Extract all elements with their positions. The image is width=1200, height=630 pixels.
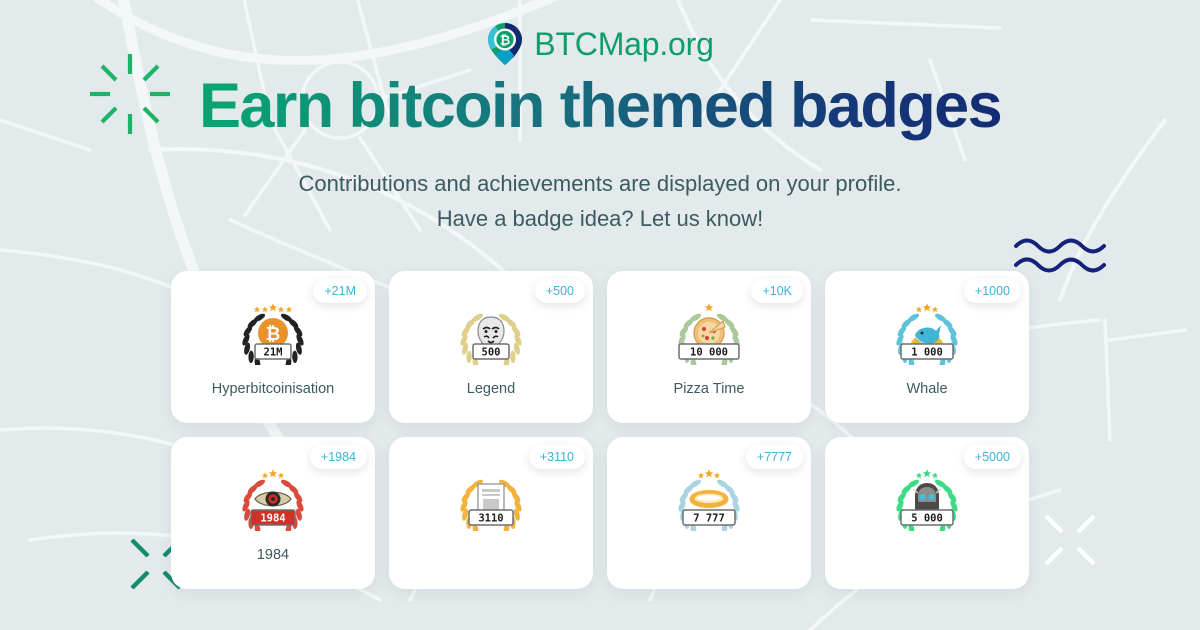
subtitle-line-1: Contributions and achievements are displ… <box>0 166 1200 201</box>
badge-grid: +21M ₿ 21MHyperbitcoinisation+500 500Leg… <box>0 271 1200 589</box>
page-subtitle: Contributions and achievements are displ… <box>0 166 1200 236</box>
surveillance-eye-laurel-icon: 1984 <box>237 469 309 531</box>
badge-points-pill: +5000 <box>964 445 1021 469</box>
guy-fawkes-mask-laurel-icon: 500 <box>455 303 527 365</box>
badge-name-label: Whale <box>906 381 947 397</box>
badge-name-label: 1984 <box>257 547 289 563</box>
badge-name-label: Pizza Time <box>674 381 745 397</box>
svg-text:1 000: 1 000 <box>911 346 943 358</box>
subtitle-line-2: Have a badge idea? Let us know! <box>0 201 1200 236</box>
whale-coins-laurel-icon: 1 000 <box>891 303 963 365</box>
badge-name-label: Hyperbitcoinisation <box>212 381 335 397</box>
badge-card[interactable]: +500 500Legend <box>389 271 593 423</box>
svg-text:1984: 1984 <box>260 512 285 524</box>
page-title: Earn bitcoin themed badges <box>0 70 1200 142</box>
svg-text:₿: ₿ <box>266 324 281 345</box>
svg-text:3110: 3110 <box>478 512 503 524</box>
brand-wordmark: BTCMap.org <box>534 26 713 63</box>
badge-points-pill: +3110 <box>529 445 585 469</box>
badge-points-pill: +1000 <box>964 279 1021 303</box>
pizza-slice-laurel-icon: 10 000 <box>673 303 745 365</box>
hacker-anonymous-laurel-icon: 5 000 <box>891 469 963 531</box>
badge-points-pill: +1984 <box>310 445 367 469</box>
badge-points-pill: +7777 <box>746 445 803 469</box>
btcmap-pin-bitcoin-icon: ₿ <box>486 22 524 66</box>
badge-card[interactable]: +3110 3110 <box>389 437 593 589</box>
badge-points-pill: +21M <box>313 279 367 303</box>
svg-text:10 000: 10 000 <box>690 346 728 358</box>
halo-laurel-icon: 7 777 <box>673 469 745 531</box>
badge-card[interactable]: +1000 1 000Whale <box>825 271 1029 423</box>
bitcoin-coin-laurel-icon: ₿ 21M <box>237 303 309 365</box>
badge-card[interactable]: +10K 10 000Pizza Time <box>607 271 811 423</box>
svg-text:21M: 21M <box>264 346 283 358</box>
badge-points-pill: +10K <box>751 279 803 303</box>
badge-card[interactable]: +5000 5 000 <box>825 437 1029 589</box>
badge-card[interactable]: +1984 19841984 <box>171 437 375 589</box>
svg-text:₿: ₿ <box>500 34 511 49</box>
badge-card[interactable]: +21M ₿ 21MHyperbitcoinisation <box>171 271 375 423</box>
badge-points-pill: +500 <box>535 279 585 303</box>
svg-text:500: 500 <box>482 346 501 358</box>
brand-logo-row[interactable]: ₿ BTCMap.org <box>0 0 1200 56</box>
newspaper-laurel-icon: 3110 <box>455 469 527 531</box>
svg-text:5 000: 5 000 <box>911 512 943 524</box>
svg-text:7 777: 7 777 <box>693 512 725 524</box>
badge-card[interactable]: +7777 7 777 <box>607 437 811 589</box>
badge-name-label: Legend <box>467 381 515 397</box>
